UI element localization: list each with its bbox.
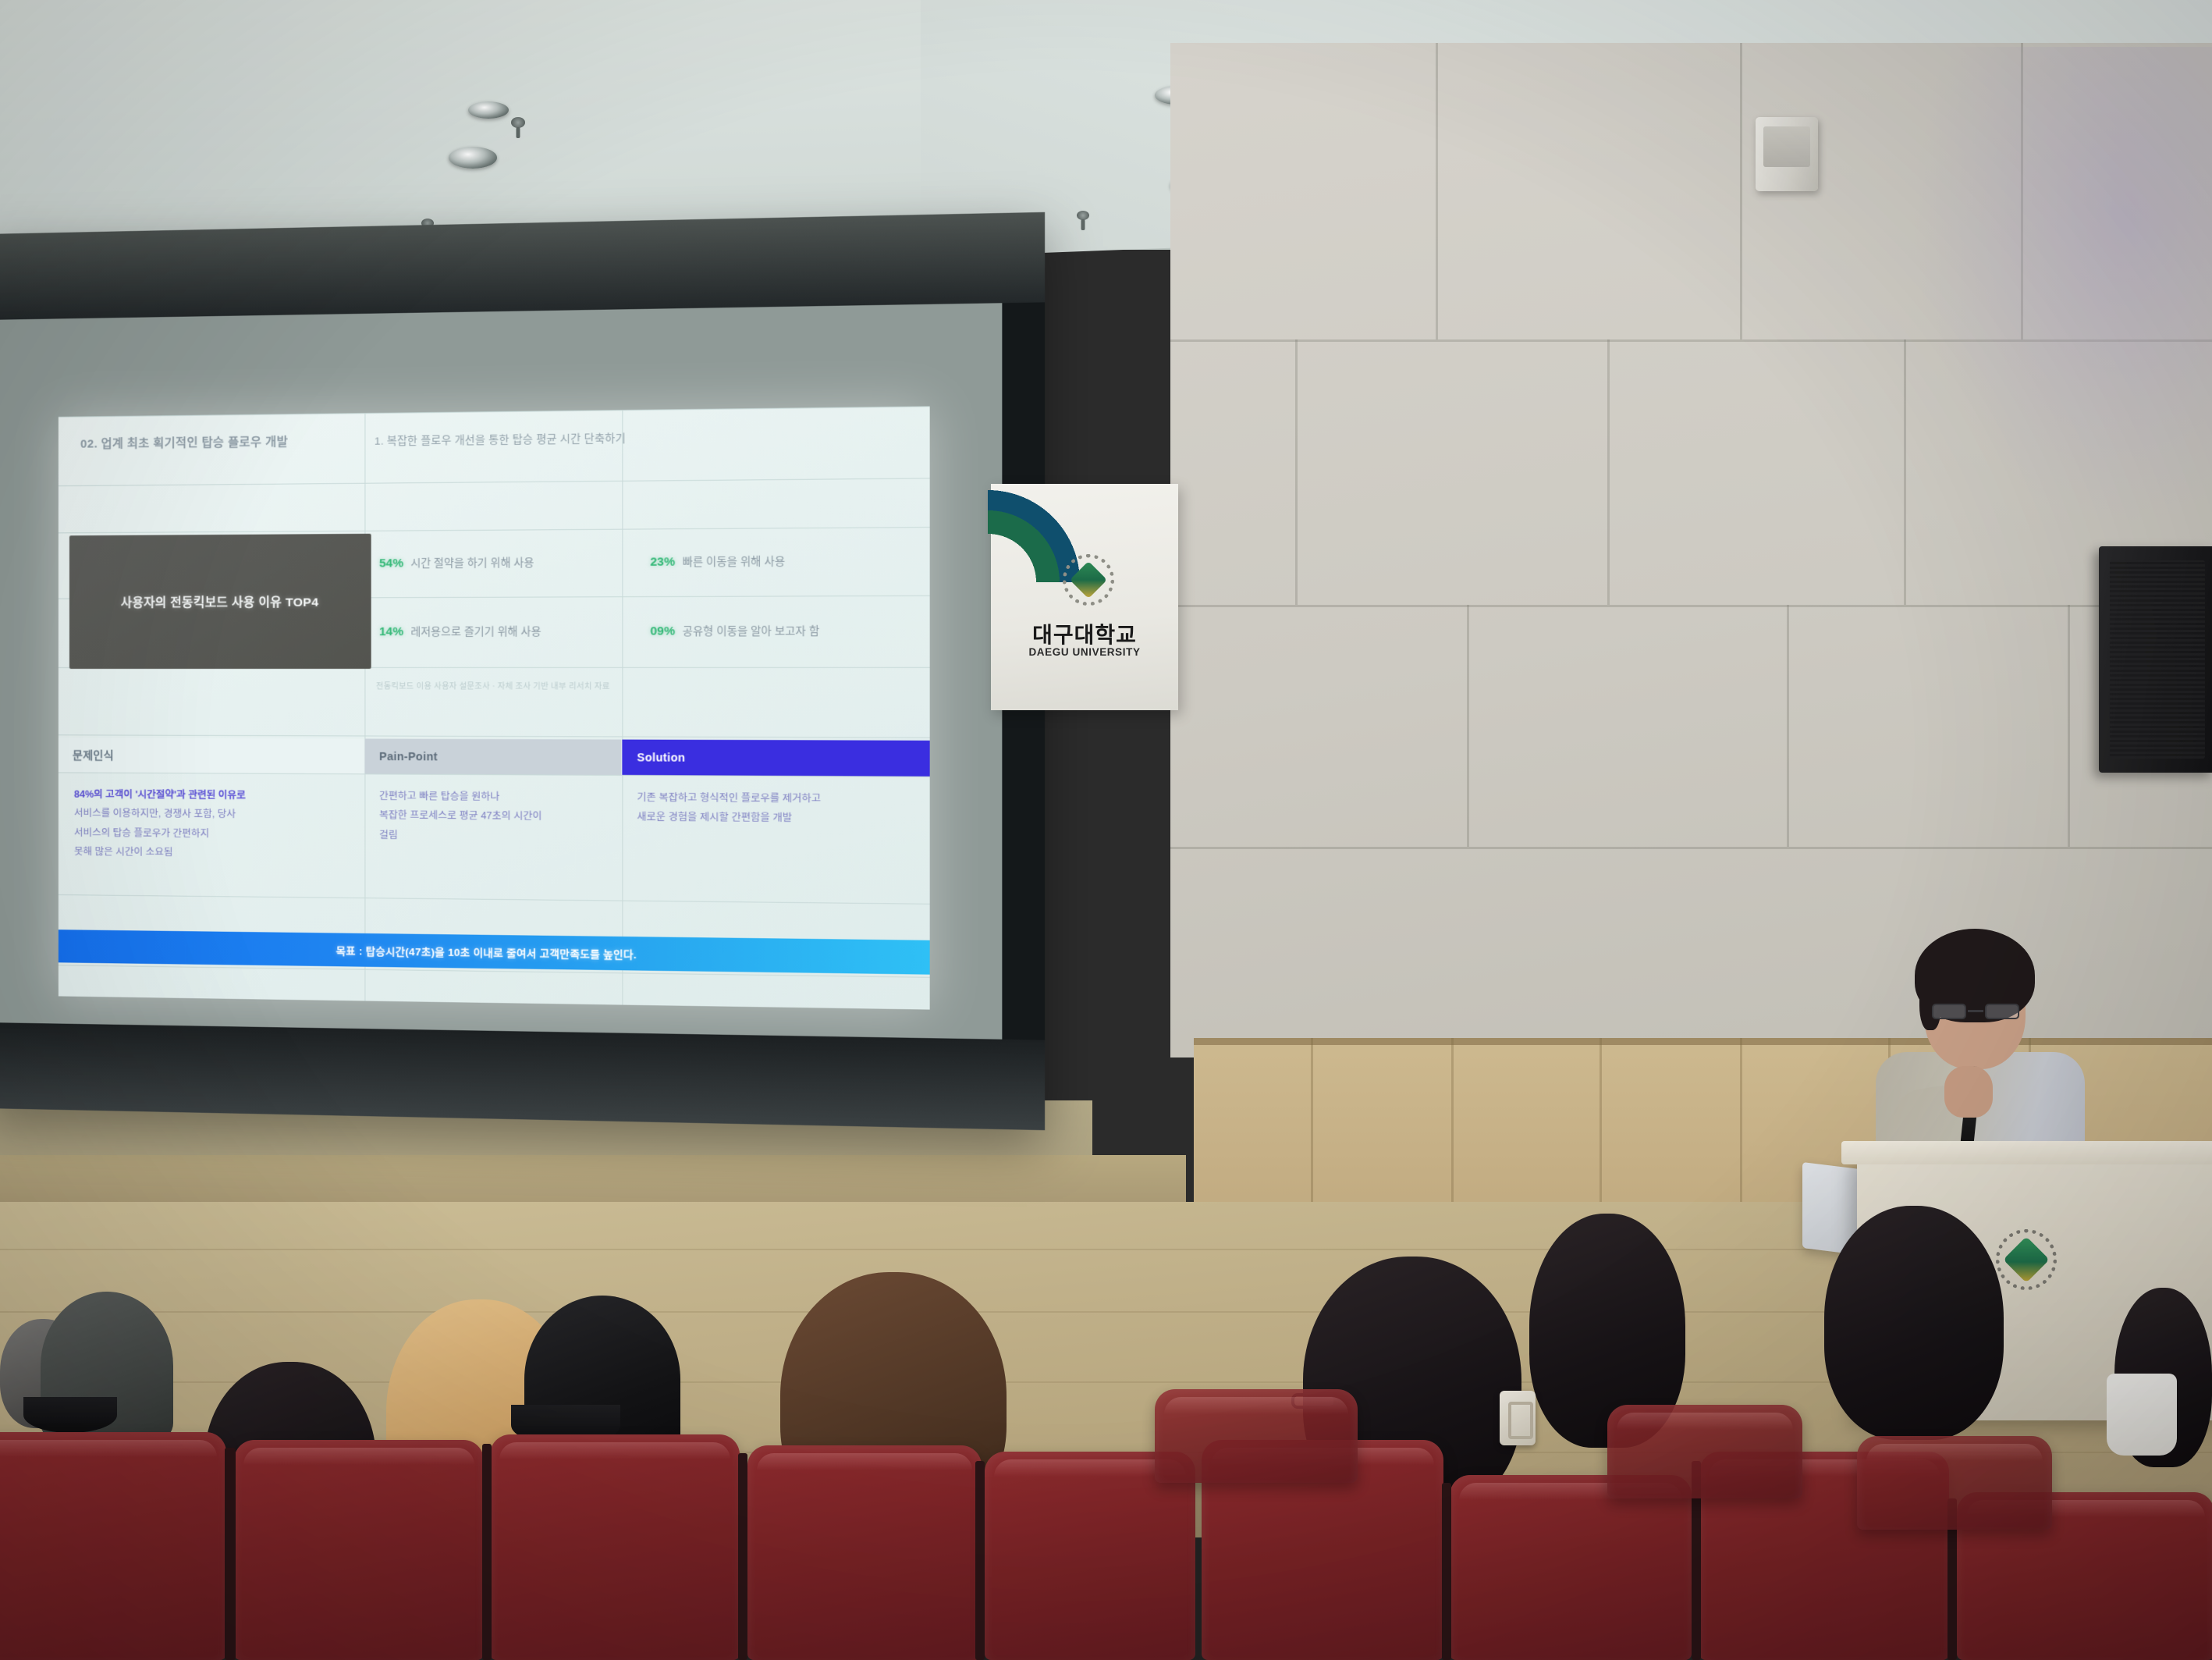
- auditorium-seat[interactable]: [0, 1432, 226, 1660]
- auditorium-seat[interactable]: [747, 1445, 982, 1660]
- university-name-en: DAEGU UNIVERSITY: [991, 646, 1178, 658]
- university-seal-icon: [1063, 554, 1114, 606]
- column-body-problem: 84%의 고객이 '시간절약'과 관련된 이유로 서비스를 이용하지만, 경쟁사…: [74, 785, 246, 863]
- column-line: 새로운 경험을 제시할 간편함을 개발: [637, 808, 821, 829]
- auditorium-seat[interactable]: [985, 1452, 1195, 1660]
- column-body-painpoint: 간편하고 빠른 탑승을 원하나 복잡한 프로세스로 평균 47초의 시간이 걸림: [379, 787, 541, 846]
- column-line: 간편하고 빠른 탑승을 원하나: [379, 787, 541, 807]
- stat-item: 09%공유형 이동을 알아 보고자 함: [650, 622, 819, 638]
- seat-divider: [1442, 1483, 1451, 1660]
- auditorium-seat[interactable]: [490, 1434, 740, 1660]
- sprinkler-head: [511, 117, 525, 128]
- presentation-slide: 02. 업계 최초 획기적인 탑승 플로우 개발 1. 복잡한 플로우 개선을 …: [59, 406, 930, 1009]
- stat-value: 23%: [650, 555, 675, 569]
- ceiling-downlight: [468, 101, 509, 119]
- column-line: 걸림: [379, 825, 541, 846]
- slide-section-title: 02. 업계 최초 획기적인 탑승 플로우 개발: [80, 433, 288, 452]
- auditorium-seat[interactable]: [1155, 1389, 1358, 1483]
- column-line: 복잡한 프로세스로 평균 47초의 시간이: [379, 806, 541, 826]
- stat-text: 공유형 이동을 알아 보고자 함: [683, 625, 819, 638]
- column-line: 기존 복잡하고 형식적인 플로우를 제거하고: [637, 787, 821, 809]
- podium-seal-icon: [1996, 1229, 2057, 1290]
- stats-label-text: 사용자의 전동킥보드 사용 이유 TOP4: [121, 592, 319, 610]
- speaker-cabinet: [2099, 546, 2212, 773]
- column-line: 서비스의 탑승 플로우가 간편하지: [74, 823, 246, 844]
- presenter-hand: [1944, 1066, 1993, 1118]
- face-mask: [2107, 1374, 2177, 1456]
- seat-divider: [975, 1461, 985, 1660]
- source-note: 전동킥보드 이용 사용자 설문조사 · 자체 조사 기반 내부 리서치 자료: [376, 679, 610, 691]
- auditorium-seat[interactable]: [234, 1440, 484, 1660]
- goal-banner: 목표 : 탑승시간(47초)을 10초 이내로 줄여서 고객만족도를 높인다.: [59, 930, 930, 975]
- ceiling-downlight: [449, 147, 497, 169]
- stat-value: 54%: [379, 556, 403, 570]
- university-banner: 대구대학교 DAEGU UNIVERSITY: [991, 484, 1178, 710]
- block-wall: [1170, 43, 2212, 1057]
- cap-brim-icon: [23, 1397, 117, 1433]
- projection-screen: 02. 업계 최초 획기적인 탑승 플로우 개발 1. 복잡한 플로우 개선을 …: [0, 212, 1045, 1130]
- screen-surface: 02. 업계 최초 획기적인 탑승 플로우 개발 1. 복잡한 플로우 개선을 …: [0, 303, 1002, 1039]
- wall-speaker-icon: [1756, 117, 1818, 191]
- seat-divider: [225, 1448, 236, 1660]
- stat-item: 54%시간 절약을 하기 위해 사용: [379, 553, 534, 570]
- stat-value: 14%: [379, 625, 403, 638]
- column-body-solution: 기존 복잡하고 형식적인 플로우를 제거하고 새로운 경험을 제시할 간편함을 …: [637, 787, 821, 828]
- goal-banner-text: 목표 : 탑승시간(47초)을 10초 이내로 줄여서 고객만족도를 높인다.: [336, 942, 637, 961]
- seat-divider: [482, 1444, 492, 1660]
- stats-label-box: 사용자의 전동킥보드 사용 이유 TOP4: [69, 534, 371, 669]
- glasses-icon: [1932, 1004, 2019, 1019]
- auditorium-seat[interactable]: [1857, 1436, 2052, 1530]
- stat-value: 09%: [650, 624, 675, 638]
- column-line: 84%의 고객이 '시간절약'과 관련된 이유로: [74, 785, 246, 805]
- stat-item: 23%빠른 이동을 위해 사용: [650, 552, 785, 569]
- stat-text: 레저용으로 즐기기 위해 사용: [410, 625, 541, 638]
- auditorium-seat[interactable]: [1450, 1475, 1692, 1660]
- column-line: 서비스를 이용하지만, 경쟁사 포함, 당사: [74, 804, 246, 824]
- column-line: 못해 많은 시간이 소요됨: [74, 842, 246, 862]
- column-header-solution: Solution: [622, 740, 929, 777]
- auditorium-scene: 02. 업계 최초 획기적인 탑승 플로우 개발 1. 복잡한 플로우 개선을 …: [0, 0, 2212, 1660]
- hair-clip-accessory: [1500, 1391, 1536, 1445]
- stat-item: 14%레저용으로 즐기기 위해 사용: [379, 622, 541, 638]
- auditorium-seat[interactable]: [1607, 1405, 1802, 1498]
- podium-top-surface: [1841, 1141, 2212, 1164]
- stat-text: 빠른 이동을 위해 사용: [683, 556, 785, 568]
- column-header-problem: 문제인식: [59, 738, 364, 773]
- audience-head: [1824, 1206, 2004, 1440]
- stat-text: 시간 절약을 하기 위해 사용: [410, 556, 534, 569]
- seat-divider: [738, 1453, 747, 1660]
- sprinkler-head: [1077, 211, 1089, 220]
- column-header-painpoint: Pain-Point: [364, 739, 621, 775]
- slide-section-subtitle: 1. 복잡한 플로우 개선을 통한 탑승 평균 시간 단축하기: [375, 429, 626, 448]
- university-name-ko: 대구대학교: [991, 618, 1178, 649]
